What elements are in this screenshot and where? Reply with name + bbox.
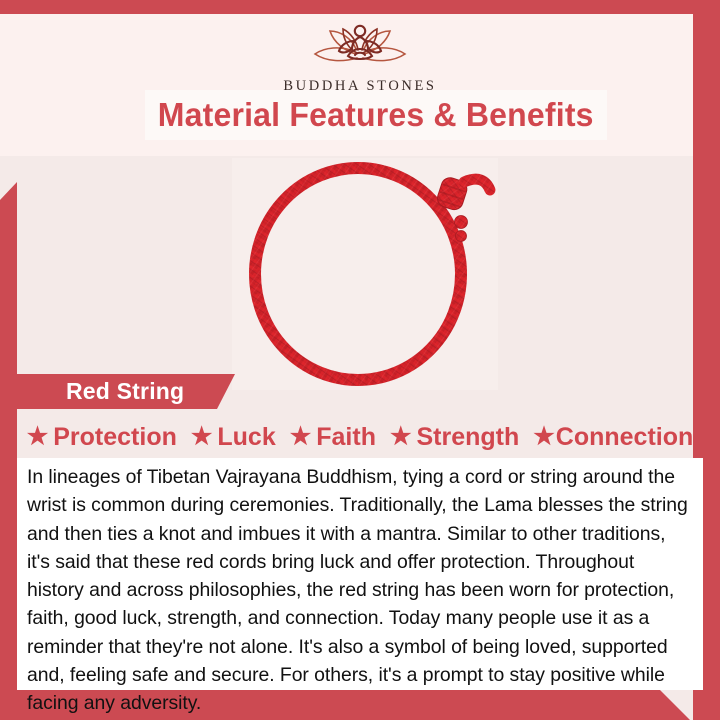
- keyword-label: Faith: [316, 423, 376, 452]
- keyword-label: Luck: [217, 423, 275, 452]
- star-icon: ★: [290, 425, 312, 449]
- red-string-bracelet-illustration: [232, 158, 498, 390]
- lotus-meditation-figure-icon: [301, 18, 419, 76]
- keyword-label: Connection: [556, 423, 694, 452]
- product-image: [232, 158, 498, 390]
- keyword-connection: ★ Connection: [533, 423, 693, 452]
- keyword-protection: ★ Protection: [27, 423, 177, 452]
- keyword-label: Protection: [53, 423, 177, 452]
- star-icon: ★: [390, 425, 412, 449]
- product-name-banner: Red String: [17, 374, 235, 409]
- keyword-faith: ★ Faith: [290, 423, 376, 452]
- keyword-label: Strength: [416, 423, 519, 452]
- description-text: In lineages of Tibetan Vajrayana Buddhis…: [27, 463, 689, 718]
- title-banner: Material Features & Benefits: [145, 90, 607, 140]
- top-red-strip: [0, 0, 720, 14]
- left-red-border: [0, 182, 17, 720]
- infographic-page: BUDDHA STONES Material Features & Benefi…: [0, 0, 720, 720]
- star-icon: ★: [191, 425, 213, 449]
- star-icon: ★: [27, 425, 49, 449]
- description-panel: In lineages of Tibetan Vajrayana Buddhis…: [17, 458, 703, 690]
- page-title: Material Features & Benefits: [158, 96, 594, 134]
- brand-logo: BUDDHA STONES: [0, 18, 720, 95]
- keyword-strength: ★ Strength: [390, 423, 519, 452]
- product-name-label: Red String: [66, 378, 184, 405]
- star-icon: ★: [533, 425, 555, 449]
- keyword-luck: ★ Luck: [191, 423, 276, 452]
- keyword-list: ★ Protection ★ Luck ★ Faith ★ Strength ★…: [17, 419, 703, 455]
